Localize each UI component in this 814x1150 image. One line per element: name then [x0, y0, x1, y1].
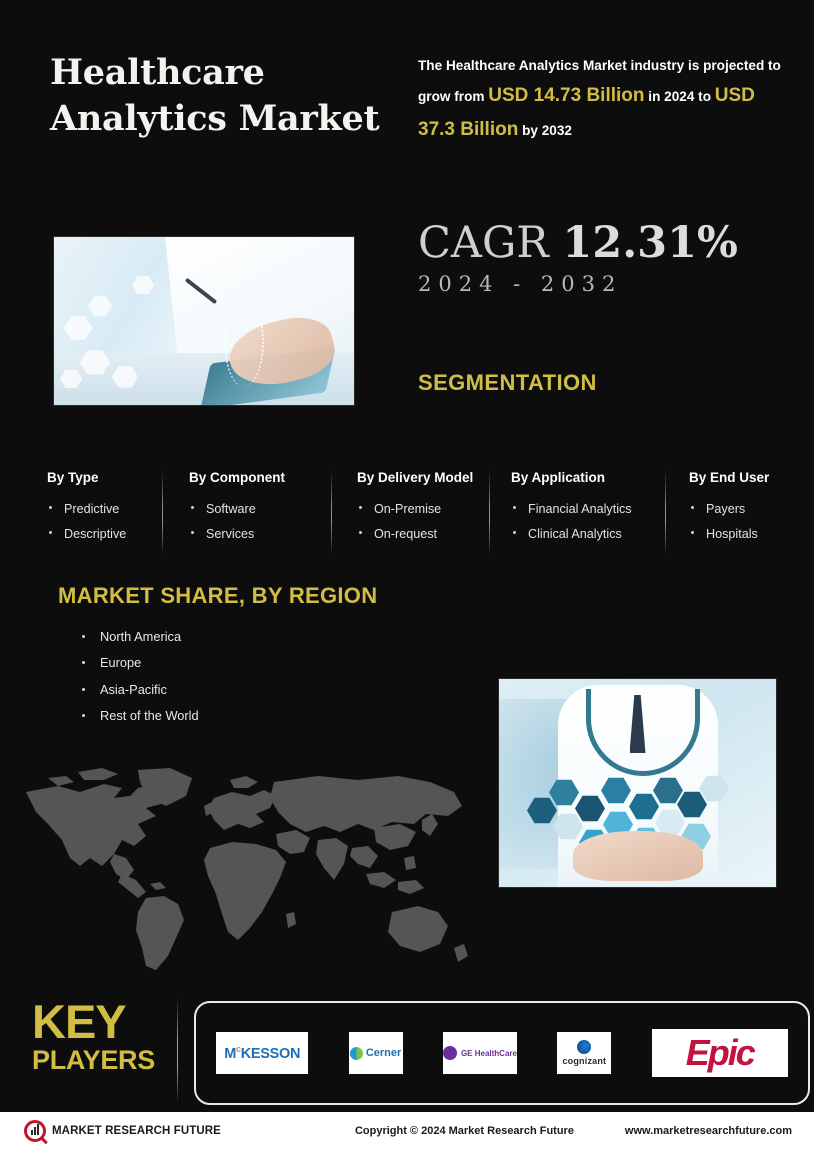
segment-list: Predictive Descriptive: [47, 497, 126, 546]
cagr-value: 12.31%: [562, 218, 738, 268]
hexagon-icon: [132, 275, 154, 295]
list-item: Payers: [689, 497, 769, 522]
segment-column-by-application: By Application Financial Analytics Clini…: [511, 470, 632, 546]
footer-bar: MARKET RESEARCH FUTURE Copyright © 2024 …: [0, 1112, 814, 1150]
segment-divider: [331, 470, 332, 556]
key-players-line2: PLAYERS: [32, 1044, 172, 1078]
hexagon-icon: [629, 793, 659, 820]
key-players-box: McKESSON Cerner GE HealthCare cognizant …: [194, 1001, 810, 1105]
logo-mckesson[interactable]: McKESSON: [216, 1032, 308, 1074]
list-item: Descriptive: [47, 522, 126, 547]
cerner-mark-icon: [350, 1047, 363, 1060]
segment-heading: By Type: [47, 470, 126, 485]
segment-column-by-end-user: By End User Payers Hospitals: [689, 470, 769, 546]
hexagon-icon: [575, 795, 605, 822]
hexagon-icon: [699, 775, 729, 802]
logo-ge-healthcare[interactable]: GE HealthCare: [443, 1032, 517, 1074]
cognizant-wordmark: cognizant: [562, 1056, 606, 1066]
logo-cognizant[interactable]: cognizant: [557, 1032, 611, 1074]
cagr-period: 2024 - 2032: [418, 272, 622, 296]
world-map: [18, 762, 480, 990]
list-item: Predictive: [47, 497, 126, 522]
list-item: Financial Analytics: [511, 497, 632, 522]
intro-paragraph: The Healthcare Analytics Market industry…: [418, 54, 796, 148]
cagr-label: CAGR: [418, 218, 549, 268]
segment-heading: By Component: [189, 470, 285, 485]
hexagon-icon: [677, 791, 707, 818]
dna-helix-icon: [224, 297, 264, 387]
cognizant-lockup: cognizant: [562, 1040, 606, 1066]
hexagon-icon: [601, 777, 631, 804]
key-players-line1: KEY: [32, 1000, 172, 1044]
ge-wordmark: GE HealthCare: [461, 1049, 517, 1058]
segment-heading: By Application: [511, 470, 632, 485]
hexagon-icon: [549, 779, 579, 806]
market-research-future-logo-icon: [24, 1120, 46, 1142]
segment-list: Software Services: [189, 497, 285, 546]
intro-value-2024: USD 14.73 Billion: [488, 85, 644, 106]
hexagon-icon: [653, 777, 683, 804]
list-item: On-Premise: [357, 497, 473, 522]
doctor-hands-shape: [573, 831, 703, 881]
cognizant-mark-icon: [577, 1040, 591, 1054]
segment-list: Financial Analytics Clinical Analytics: [511, 497, 632, 546]
segment-heading: By Delivery Model: [357, 470, 473, 485]
key-players-divider: [177, 998, 178, 1104]
segment-divider: [162, 470, 163, 556]
infographic-page: Healthcare Analytics Market The Healthca…: [0, 0, 814, 1150]
segmentation-title: SEGMENTATION: [418, 370, 597, 396]
list-item: Asia-Pacific: [78, 677, 199, 703]
list-item: Services: [189, 522, 285, 547]
market-share-title: MARKET SHARE, BY REGION: [58, 583, 377, 609]
segment-list: Payers Hospitals: [689, 497, 769, 546]
segment-column-by-component: By Component Software Services: [189, 470, 285, 546]
ge-monogram-icon: [443, 1046, 457, 1060]
list-item: Hospitals: [689, 522, 769, 547]
cerner-wordmark: Cerner: [366, 1047, 401, 1059]
world-map-svg: [18, 762, 480, 990]
segment-divider: [665, 470, 666, 556]
segment-column-by-type: By Type Predictive Descriptive: [47, 470, 126, 546]
hexagon-icon: [527, 797, 557, 824]
logo-epic[interactable]: Epic: [652, 1029, 788, 1077]
key-players-title: KEY PLAYERS: [32, 1000, 172, 1077]
doctor-image: [498, 678, 777, 888]
ge-lockup: GE HealthCare: [443, 1046, 517, 1060]
cerner-lockup: Cerner: [350, 1047, 401, 1060]
logo-cerner[interactable]: Cerner: [349, 1032, 403, 1074]
footer-brand-text: MARKET RESEARCH FUTURE: [52, 1125, 221, 1137]
segment-column-by-delivery-model: By Delivery Model On-Premise On-request: [357, 470, 473, 546]
footer-website[interactable]: www.marketresearchfuture.com: [625, 1125, 792, 1137]
cagr-block: CAGR 12.31%: [418, 218, 738, 268]
intro-text-2: in 2024 to: [645, 89, 715, 104]
segment-divider: [489, 470, 490, 556]
hero-image: [53, 236, 355, 406]
list-item: Clinical Analytics: [511, 522, 632, 547]
list-item: North America: [78, 624, 199, 650]
segmentation-row: By Type Predictive Descriptive By Compon…: [0, 470, 814, 556]
hexagon-icon: [64, 315, 92, 341]
list-item: Rest of the World: [78, 703, 199, 729]
page-title: Healthcare Analytics Market: [50, 50, 380, 142]
region-list: North America Europe Asia-Pacific Rest o…: [78, 624, 199, 729]
footer-copyright: Copyright © 2024 Market Research Future: [304, 1125, 625, 1137]
list-item: Software: [189, 497, 285, 522]
intro-text-3: by 2032: [518, 123, 572, 138]
list-item: On-request: [357, 522, 473, 547]
segment-heading: By End User: [689, 470, 769, 485]
footer-brand: MARKET RESEARCH FUTURE: [24, 1120, 304, 1142]
hexagon-icon: [553, 813, 583, 840]
hexagon-icon: [88, 295, 112, 317]
list-item: Europe: [78, 650, 199, 676]
segment-list: On-Premise On-request: [357, 497, 473, 546]
epic-wordmark: Epic: [686, 1035, 754, 1071]
mckesson-wordmark: McKESSON: [224, 1044, 300, 1062]
